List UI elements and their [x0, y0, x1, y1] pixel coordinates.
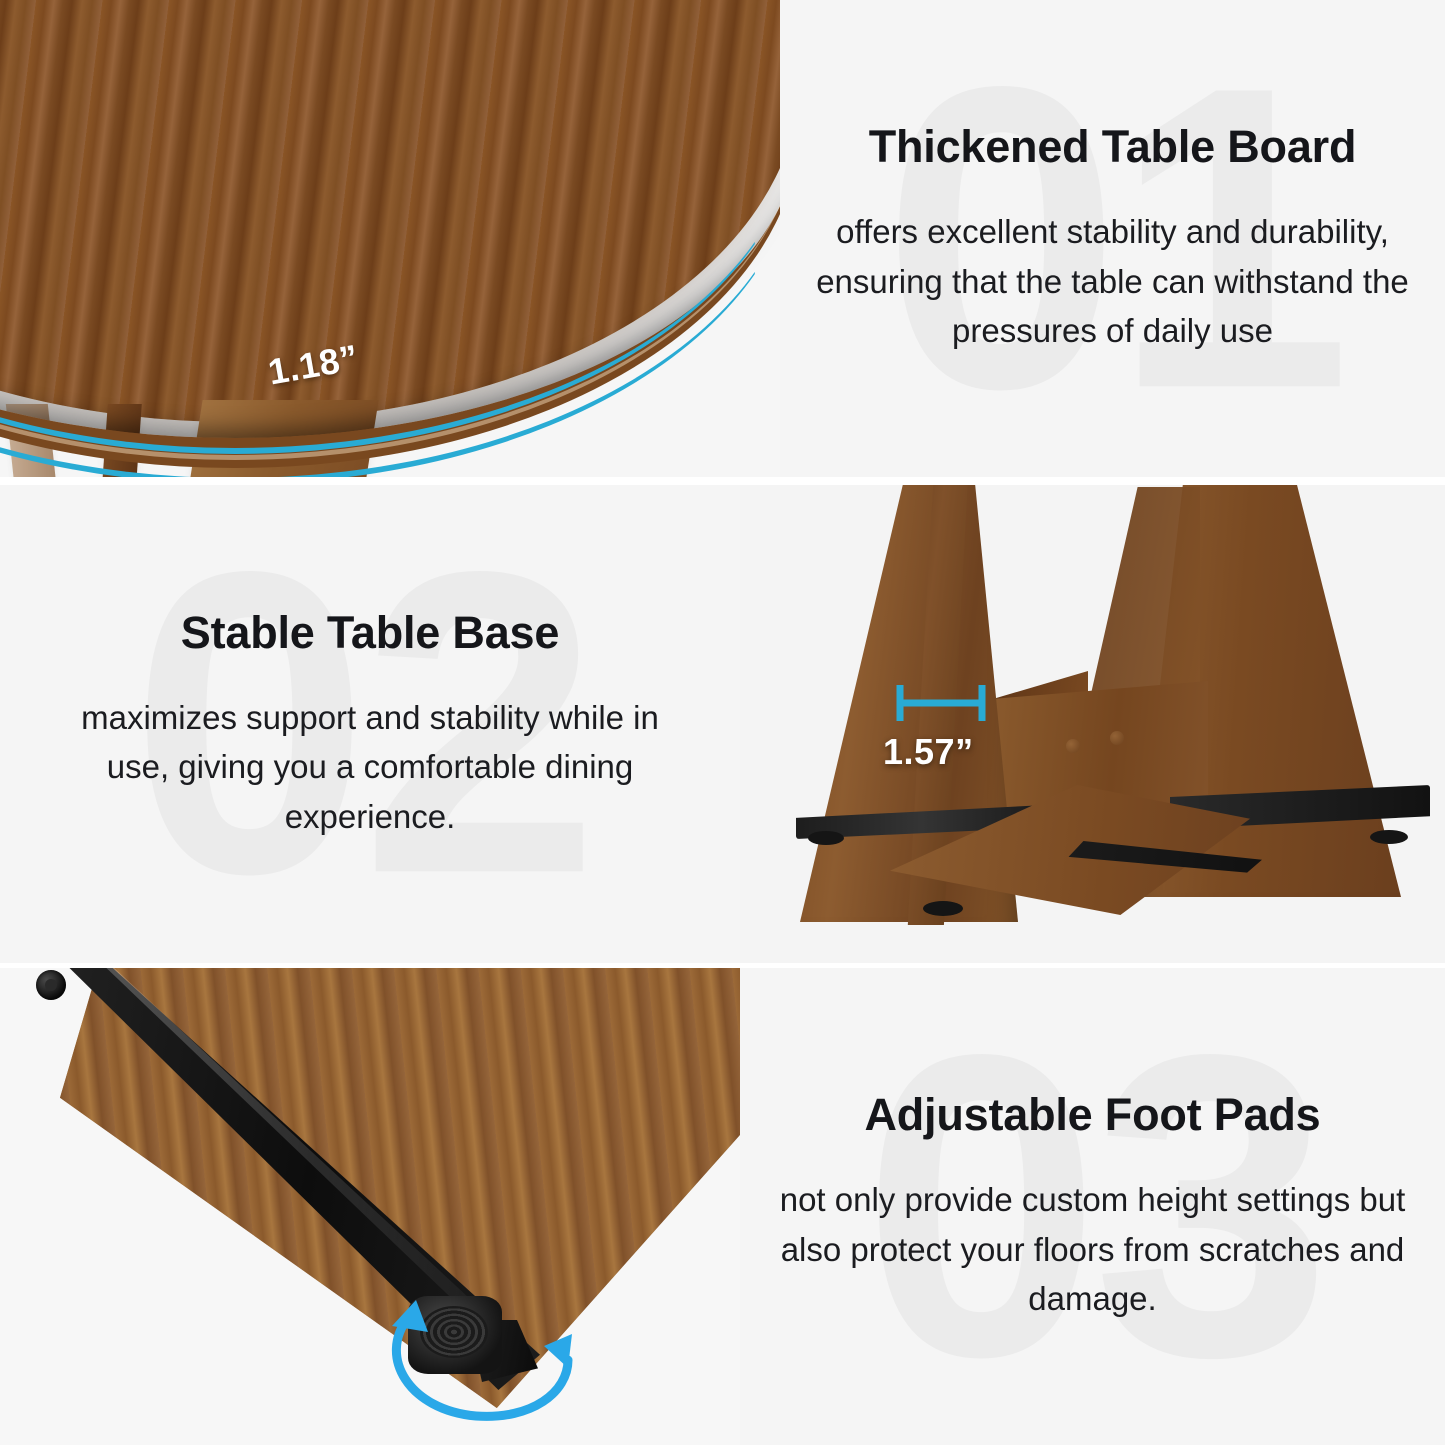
feature-headline-3: Adjustable Foot Pads: [864, 1089, 1320, 1141]
rail-screw: [36, 970, 66, 1000]
table-base-scene: 1.57”: [740, 485, 1445, 963]
feature-panel-3: 03 Adjustable Foot Pads not only provide…: [0, 968, 1445, 1445]
base-screw: [1110, 731, 1124, 745]
tabletop-scene: 1.18”: [0, 0, 780, 477]
base-dimension-label: 1.57”: [883, 731, 974, 773]
base-foot-pad: [808, 831, 844, 845]
feature-panel-1: 1.18” 01 Thickened Table Board offers ex…: [0, 0, 1445, 477]
table-base-image: 1.57”: [740, 485, 1445, 963]
base-foot-pad: [923, 901, 963, 916]
foot-pad-scene: [0, 968, 740, 1445]
feature-panel-3-copy: 03 Adjustable Foot Pads not only provide…: [740, 968, 1445, 1445]
feature-panel-2: 1.57” 02 Stable Table Base maximizes sup…: [0, 485, 1445, 963]
feature-panel-2-copy: 02 Stable Table Base maximizes support a…: [0, 485, 740, 963]
feature-body-2: maximizes support and stability while in…: [50, 693, 690, 842]
product-feature-infographic: 1.18” 01 Thickened Table Board offers ex…: [0, 0, 1445, 1445]
base-screw: [1066, 739, 1080, 753]
feature-body-3: not only provide custom height settings …: [773, 1175, 1413, 1324]
feature-body-1: offers excellent stability and durabilit…: [806, 207, 1419, 356]
base-foot-pad: [1370, 830, 1408, 844]
foot-pad-ribbed-surface: [420, 1306, 488, 1358]
feature-panel-1-copy: 01 Thickened Table Board offers excellen…: [780, 0, 1445, 477]
feature-headline-2: Stable Table Base: [181, 607, 559, 659]
table-top-image: 1.18”: [0, 0, 780, 477]
width-dimension-marker: [890, 681, 1000, 725]
foot-pad-image: [0, 968, 740, 1445]
feature-headline-1: Thickened Table Board: [869, 121, 1357, 173]
